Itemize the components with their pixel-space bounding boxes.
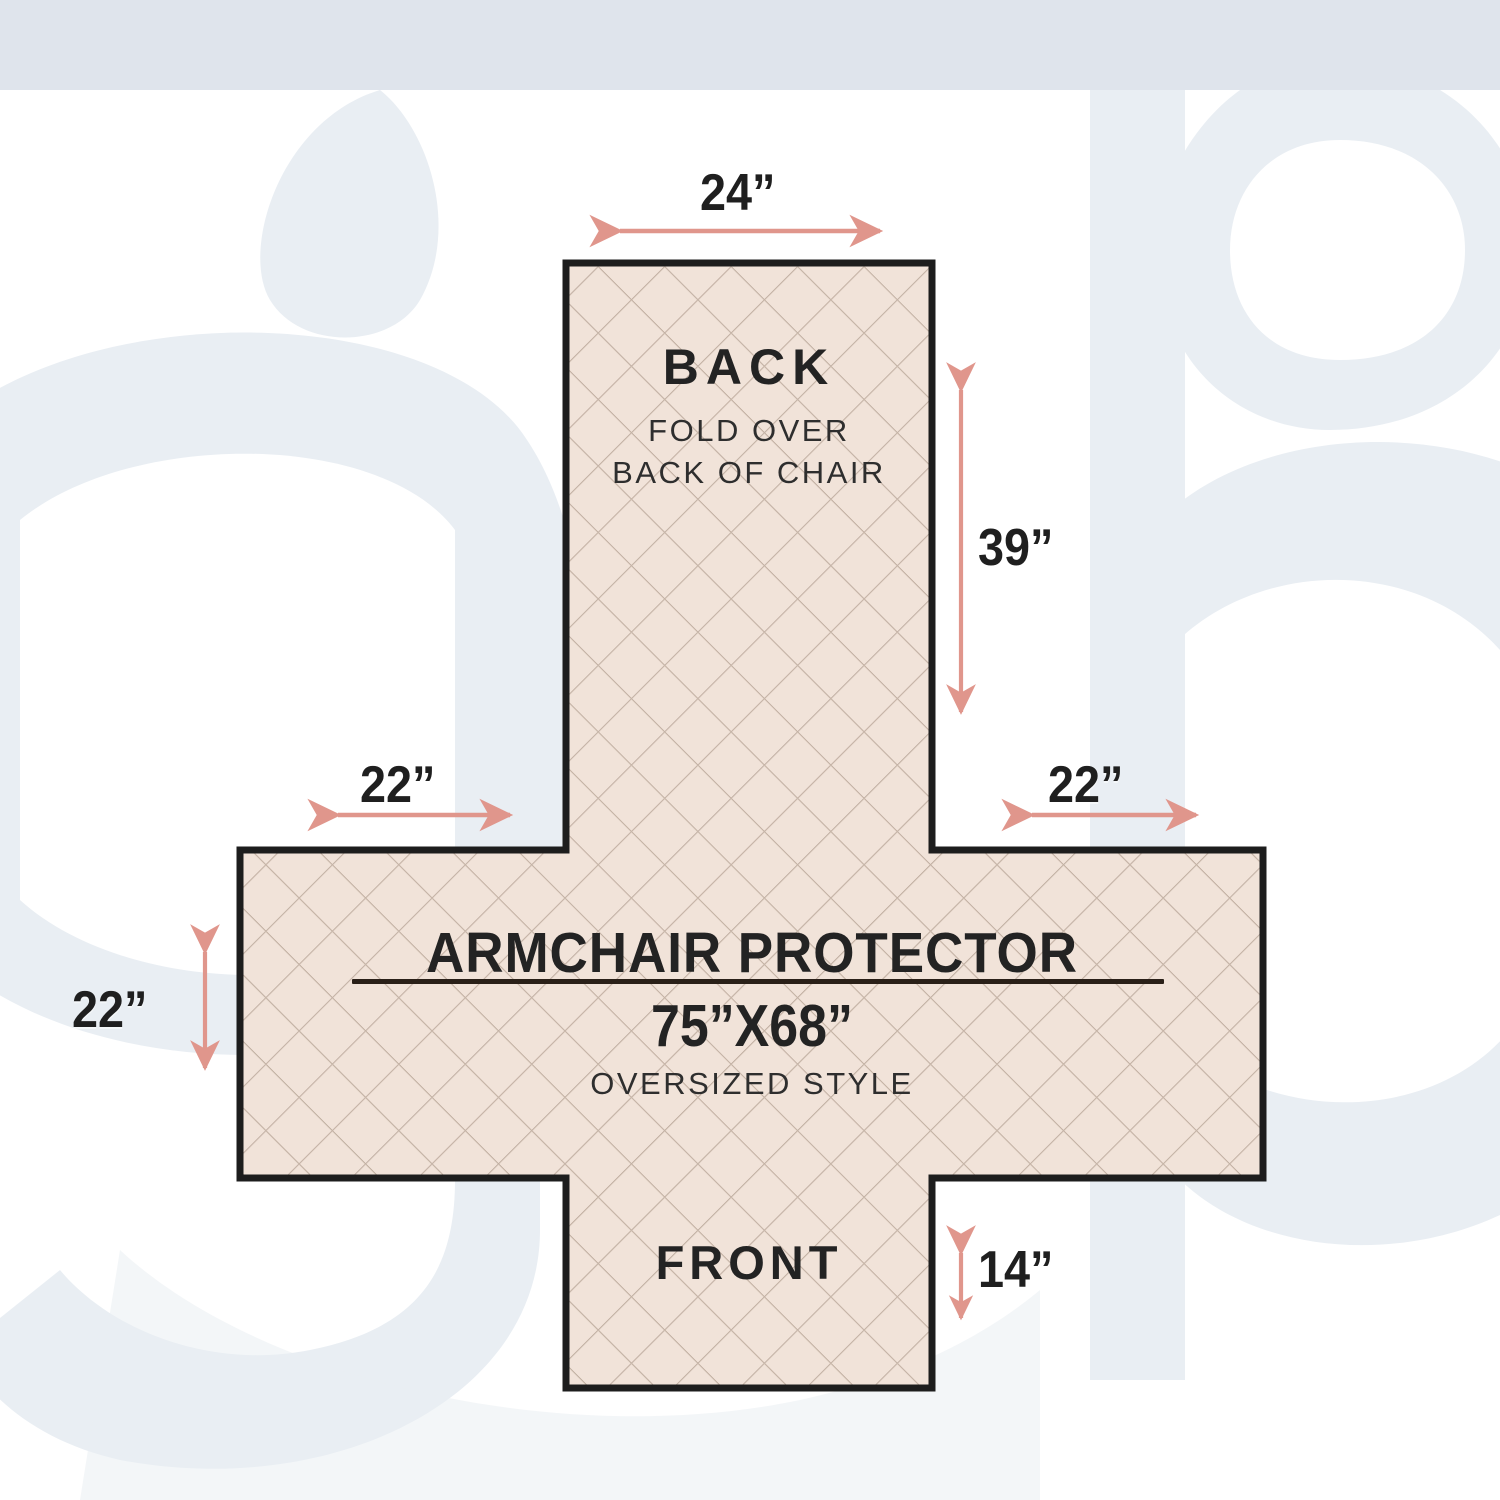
dimension-label-arm-depth: 22” [72,980,147,1040]
title-divider [352,979,1164,984]
dimension-label-back-height: 39” [978,518,1053,578]
dimension-label-front-height: 14” [978,1240,1053,1300]
dimension-label-back-width: 24” [700,163,775,223]
back-panel-label: BACK [566,338,932,396]
header-band [0,0,1500,90]
back-instruction-line-2: BACK OF CHAIR [566,452,932,494]
product-size: 75”X68” [301,992,1202,1060]
dimension-label-left-arm: 22” [360,755,435,815]
front-panel-label: FRONT [566,1235,932,1290]
back-instruction-line-1: FOLD OVER [566,410,932,452]
product-name: ARMCHAIR PROTECTOR [276,920,1228,986]
product-style: OVERSIZED STYLE [240,1066,1264,1102]
size-guide-diagram: FURNITURE PROTECTOR SIZE GUIDE [0,0,1500,1500]
dimension-label-right-arm: 22” [1048,755,1123,815]
back-panel-instruction: FOLD OVER BACK OF CHAIR [566,410,932,494]
